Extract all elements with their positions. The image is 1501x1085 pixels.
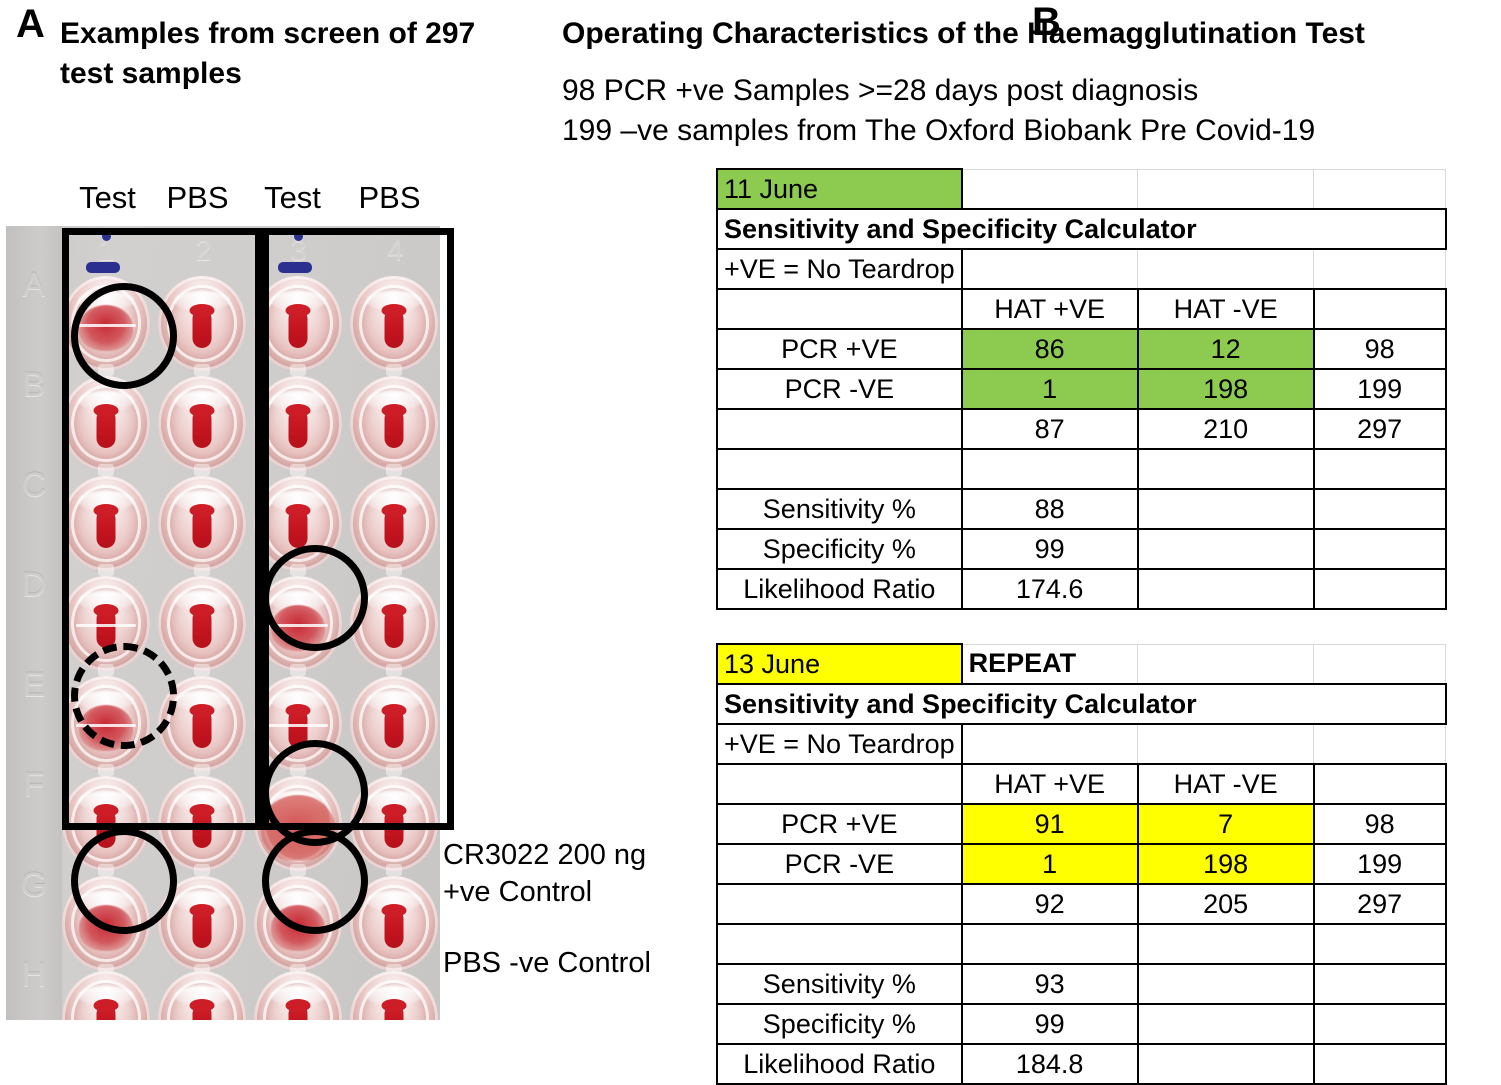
table-1-spacer-a4 <box>1314 449 1446 489</box>
table-2-colhead-hat-neg: HAT -VE <box>1138 764 1314 804</box>
table-1-specificity-spacer-1 <box>1138 529 1314 569</box>
plate-row-label-e: E <box>16 666 52 705</box>
table-2-true-negative: 198 <box>1138 844 1314 884</box>
plate-row-label-a: A <box>16 266 52 305</box>
positive-well-circle-d3 <box>262 545 368 651</box>
table-2-row-total-pcr-pos: 98 <box>1314 804 1446 844</box>
plate-well-h1 <box>62 971 150 1020</box>
plate-row-label-c: C <box>16 466 52 505</box>
borderline-well-circle-e1 <box>71 643 177 749</box>
table-1-true-positive: 86 <box>962 329 1138 369</box>
plate-column-headers: Test PBS Test PBS <box>60 182 460 222</box>
table-1-specificity-label: Specificity % <box>717 529 962 569</box>
plate-well-h4 <box>350 971 438 1020</box>
table-1-specificity-spacer-2 <box>1314 529 1446 569</box>
panel-b-subtitle-1: 98 PCR +ve Samples >=28 days post diagno… <box>562 72 1198 110</box>
table-2-colhead-0 <box>717 764 962 804</box>
plate-row-label-b: B <box>16 366 52 405</box>
table-2-totals-label <box>717 884 962 924</box>
table-1-likelihood-value: 174.6 <box>962 569 1138 609</box>
plate-well-h2 <box>158 971 246 1020</box>
table-1-definition-spacer-3 <box>1314 249 1446 289</box>
table-1-likelihood-label: Likelihood Ratio <box>717 569 962 609</box>
table-1-definition: +VE = No Teardrop <box>717 249 962 289</box>
table-2-spacer-a2 <box>962 924 1138 964</box>
table-1-sensitivity-spacer-2 <box>1314 489 1446 529</box>
table-2-spacer-a1 <box>717 924 962 964</box>
table-2-definition: +VE = No Teardrop <box>717 724 962 764</box>
table-2-row-label-pcr-pos: PCR +VE <box>717 804 962 844</box>
plate-column-header-3: Test <box>245 182 340 213</box>
table-2-true-positive: 91 <box>962 804 1138 844</box>
table-1-header-spacer-2 <box>1314 169 1446 209</box>
table-1-calculator-title: Sensitivity and Specificity Calculator <box>717 209 1446 249</box>
table-row: 87 210 297 <box>717 409 1446 449</box>
table-1-sensitivity-label: Sensitivity % <box>717 489 962 529</box>
panel-b-subtitle-2: 199 –ve samples from The Oxford Biobank … <box>562 112 1315 150</box>
table-2-specificity-label: Specificity % <box>717 1004 962 1044</box>
table-1-sensitivity-value: 88 <box>962 489 1138 529</box>
table-2-definition-spacer-2 <box>1138 724 1314 764</box>
table-1-definition-spacer-2 <box>1138 249 1314 289</box>
table-1-grand-total: 297 <box>1314 409 1446 449</box>
table-2-false-positive: 1 <box>962 844 1138 884</box>
table-1-col-total-hat-neg: 210 <box>1138 409 1314 449</box>
panel-b: B Operating Characteristics of the Haema… <box>510 0 1501 1083</box>
sample-block-outline-right <box>255 228 454 830</box>
table-1-specificity-value: 99 <box>962 529 1138 569</box>
table-row: +VE = No Teardrop <box>717 249 1446 289</box>
table-2-colhead-hat-pos: HAT +VE <box>962 764 1138 804</box>
table-2-sensitivity-spacer-2 <box>1314 964 1446 1004</box>
table-2-sensitivity-spacer-1 <box>1138 964 1314 1004</box>
table-2-header-spacer-1 <box>1138 644 1314 684</box>
table-row: Sensitivity % 93 <box>717 964 1446 1004</box>
table-2-row-total-pcr-neg: 199 <box>1314 844 1446 884</box>
positive-control-circle-g1 <box>71 828 177 934</box>
table-2-likelihood-spacer-2 <box>1314 1044 1446 1084</box>
table-1-colhead-hat-pos: HAT +VE <box>962 289 1138 329</box>
table-1-row-label-pcr-pos: PCR +VE <box>717 329 962 369</box>
table-2-specificity-value: 99 <box>962 1004 1138 1044</box>
table-row: PCR -VE 1 198 199 <box>717 369 1446 409</box>
table-2-col-total-hat-pos: 92 <box>962 884 1138 924</box>
table-2-header-spacer-2 <box>1314 644 1446 684</box>
table-2-likelihood-label: Likelihood Ratio <box>717 1044 962 1084</box>
table-row: Specificity % 99 <box>717 529 1446 569</box>
table-1-header-spacer-1 <box>1138 169 1314 209</box>
plate-well-h3 <box>254 971 342 1020</box>
table-1-spacer-a1 <box>717 449 962 489</box>
table-2-false-negative: 7 <box>1138 804 1314 844</box>
panel-a-letter: A <box>16 4 45 44</box>
plate-column-header-1: Test <box>60 182 155 213</box>
table-2-sensitivity-value: 93 <box>962 964 1138 1004</box>
table-row: Likelihood Ratio 184.8 <box>717 1044 1446 1084</box>
table-1-row-total-pcr-pos: 98 <box>1314 329 1446 369</box>
table-1-colhead-0 <box>717 289 962 329</box>
table-1-colhead-hat-neg: HAT -VE <box>1138 289 1314 329</box>
table-1-false-negative: 12 <box>1138 329 1314 369</box>
table-2-col-total-hat-neg: 205 <box>1138 884 1314 924</box>
table-2-spacer-a3 <box>1138 924 1314 964</box>
plate-column-header-4: PBS <box>342 182 437 213</box>
table-2-sensitivity-label: Sensitivity % <box>717 964 962 1004</box>
table-row: PCR -VE 1 198 199 <box>717 844 1446 884</box>
plate-row-label-g: G <box>16 866 52 905</box>
table-2-likelihood-value: 184.8 <box>962 1044 1138 1084</box>
table-1-date-label: 11 June <box>717 169 962 209</box>
panel-a: A Examples from screen of 297 test sampl… <box>0 0 510 1083</box>
table-1-spacer-a2 <box>962 449 1138 489</box>
table-row: Specificity % 99 <box>717 1004 1446 1044</box>
table-2-specificity-spacer-2 <box>1314 1004 1446 1044</box>
table-row: 13 June REPEAT <box>717 644 1446 684</box>
table-1-totals-label <box>717 409 962 449</box>
panel-b-title: Operating Characteristics of the Haemagg… <box>562 16 1501 52</box>
table-2-row-label-pcr-neg: PCR -VE <box>717 844 962 884</box>
table-1-false-positive: 1 <box>962 369 1138 409</box>
table-row <box>717 924 1446 964</box>
table-1-repeat-label <box>962 169 1138 209</box>
table-1-row-label-pcr-neg: PCR -VE <box>717 369 962 409</box>
table-1-colhead-total <box>1314 289 1446 329</box>
table-row <box>717 449 1446 489</box>
plate-row-label-h: H <box>16 956 52 995</box>
table-2-calculator-title: Sensitivity and Specificity Calculator <box>717 684 1446 724</box>
table-row: PCR +VE 91 7 98 <box>717 804 1446 844</box>
table-1-true-negative: 198 <box>1138 369 1314 409</box>
table-2-colhead-total <box>1314 764 1446 804</box>
positive-well-circle-a1 <box>71 283 177 389</box>
operating-characteristics-table-1: 11 June Sensitivity and Specificity Calc… <box>716 168 1447 610</box>
plate-row-label-d: D <box>16 566 52 605</box>
table-1-spacer-a3 <box>1138 449 1314 489</box>
panel-a-title: Examples from screen of 297 test samples <box>60 14 500 94</box>
table-2-definition-spacer-1 <box>962 724 1138 764</box>
table-row: 11 June <box>717 169 1446 209</box>
table-2-repeat-label: REPEAT <box>962 644 1138 684</box>
table-1-sensitivity-spacer-1 <box>1138 489 1314 529</box>
table-2-likelihood-spacer-1 <box>1138 1044 1314 1084</box>
table-2-date-label: 13 June <box>717 644 962 684</box>
table-2-spacer-a4 <box>1314 924 1446 964</box>
table-row: Likelihood Ratio 174.6 <box>717 569 1446 609</box>
operating-characteristics-table-2: 13 June REPEAT Sensitivity and Specifici… <box>716 643 1447 1085</box>
table-row: Sensitivity and Specificity Calculator <box>717 209 1446 249</box>
table-row: Sensitivity % 88 <box>717 489 1446 529</box>
table-row: PCR +VE 86 12 98 <box>717 329 1446 369</box>
plate-row-label-f: F <box>16 766 52 805</box>
table-row: +VE = No Teardrop <box>717 724 1446 764</box>
table-1-definition-spacer-1 <box>962 249 1138 289</box>
table-1-col-total-hat-pos: 87 <box>962 409 1138 449</box>
table-row: HAT +VE HAT -VE <box>717 289 1446 329</box>
table-row: HAT +VE HAT -VE <box>717 764 1446 804</box>
table-row: 92 205 297 <box>717 884 1446 924</box>
table-2-definition-spacer-3 <box>1314 724 1446 764</box>
table-row: Sensitivity and Specificity Calculator <box>717 684 1446 724</box>
table-2-grand-total: 297 <box>1314 884 1446 924</box>
table-2-specificity-spacer-1 <box>1138 1004 1314 1044</box>
table-1-row-total-pcr-neg: 199 <box>1314 369 1446 409</box>
table-1-likelihood-spacer-1 <box>1138 569 1314 609</box>
table-1-likelihood-spacer-2 <box>1314 569 1446 609</box>
plate-column-header-2: PBS <box>150 182 245 213</box>
positive-control-circle-g3 <box>262 828 368 934</box>
